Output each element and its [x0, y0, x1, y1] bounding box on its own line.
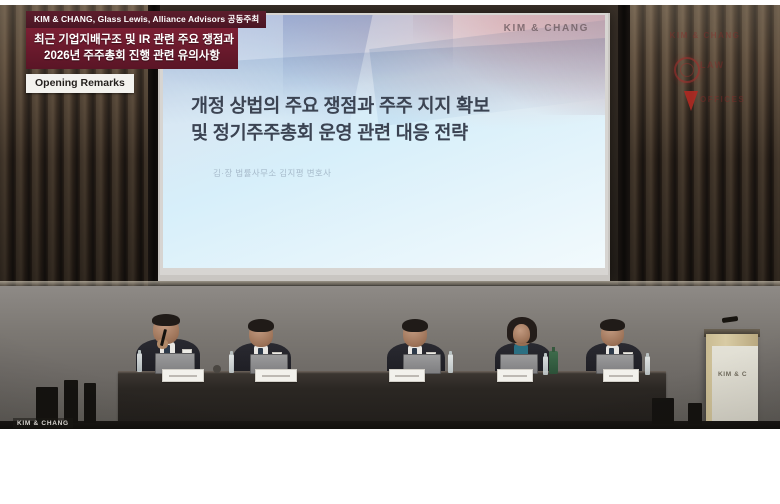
broadcast-overlay-group: KIM & CHANG, Glass Lewis, Alliance Advis… [26, 9, 238, 93]
water-bottle-5 [645, 356, 650, 375]
slide-title: 개정 상법의 주요 쟁점과 주주 지지 확보 및 정기주주총회 운영 관련 대응… [191, 93, 581, 147]
panelist-4-face [513, 324, 530, 344]
panelist-5-hair [600, 319, 625, 331]
podium-brand-label: KIM & C [718, 371, 747, 378]
nameplate-4 [497, 369, 533, 382]
wall-sign-accent-icon [684, 91, 698, 111]
overlay-section-label: Opening Remarks [26, 74, 134, 93]
wall-sign-top-text: KIM & CHANG [650, 31, 760, 40]
green-bottle [549, 351, 558, 374]
wall-lighting-gradient-right [630, 5, 780, 286]
cup-1 [213, 365, 221, 373]
nameplate-2 [255, 369, 297, 382]
slide-title-line-1: 개정 상법의 주요 쟁점과 주주 지지 확보 [191, 95, 490, 116]
screenshot-canvas: KIM & CHANG LAW OFFICES KIM & CHANG 개정 상… [0, 0, 780, 504]
screen-right-post [618, 5, 630, 286]
panelist-2-hair [248, 319, 274, 332]
overlay-event-title-line-1: 최근 기업지배구조 및 IR 관련 주요 쟁점과 [34, 34, 234, 46]
slide-title-line-2: 및 정기주주총회 운영 관련 대응 전략 [191, 120, 581, 147]
water-bottle-3 [448, 354, 453, 373]
floor-stand-left-2 [84, 383, 96, 423]
podium-front-panel [712, 346, 758, 429]
water-bottle-4 [543, 356, 548, 375]
overlay-event-title-banner: 최근 기업지배구조 및 IR 관련 주요 쟁점과 2026년 주주총회 진행 관… [26, 28, 238, 70]
overlay-host-banner: KIM & CHANG, Glass Lewis, Alliance Advis… [26, 11, 266, 28]
panelist-3-hair [402, 319, 428, 332]
slide-decor-band-2 [283, 15, 453, 105]
floor-object-right [652, 398, 674, 424]
nameplate-3 [389, 369, 425, 382]
slide-brand-logo: KIM & CHANG [504, 23, 589, 34]
wall-sign-bottom-text: OFFICES [700, 95, 770, 104]
slide-presenter-subtitle: 김·장 법률사무소 김지평 변호사 [213, 167, 331, 179]
floor-stand-left [64, 380, 78, 423]
wood-slat-wall-right [630, 5, 780, 286]
panelist-1-hair [152, 314, 180, 326]
video-player-frame[interactable]: KIM & CHANG LAW OFFICES KIM & CHANG 개정 상… [0, 5, 780, 429]
video-watermark: KIM & CHANG [13, 418, 73, 428]
water-bottle-1 [137, 353, 142, 372]
water-bottle-2 [229, 354, 234, 373]
wall-sign-mid-text: LAW [700, 60, 760, 70]
bottom-margin [0, 429, 780, 504]
overlay-event-title-line-2: 2026년 주주총회 진행 관련 유의사항 [44, 50, 220, 62]
nameplate-5 [603, 369, 639, 382]
wall-sign-emblem-icon [674, 57, 700, 83]
floor-object-right-2 [688, 403, 702, 424]
nameplate-1 [162, 369, 204, 382]
